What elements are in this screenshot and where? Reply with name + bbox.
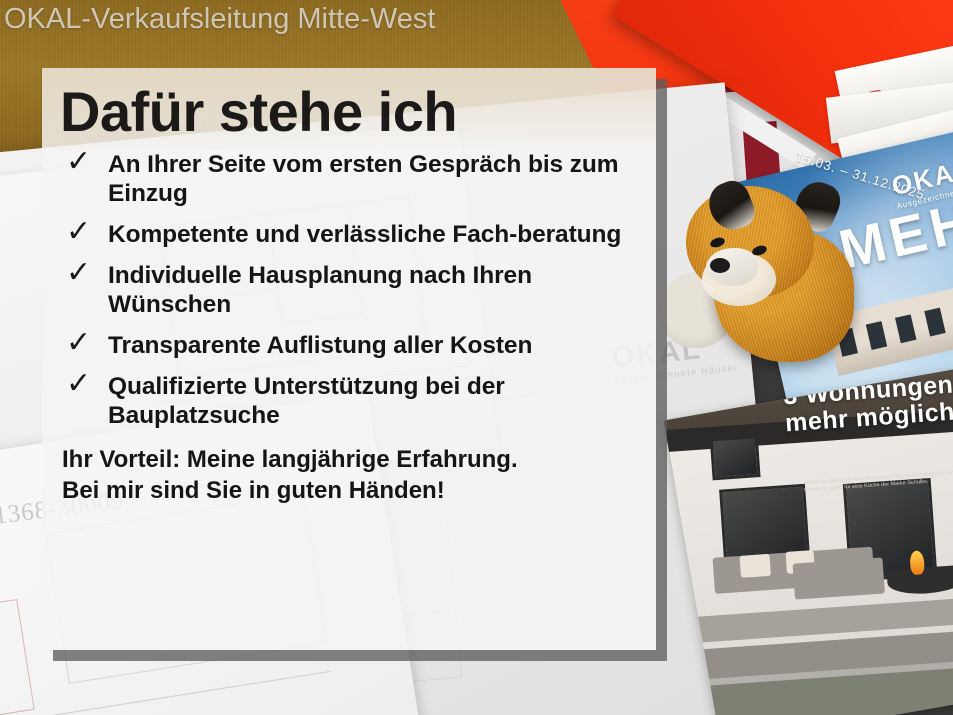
list-item-label: Kompetente und verlässliche Fach-beratun… [108,221,621,248]
closing-statement: Ihr Vorteil: Meine langjährige Erfahrung… [60,444,638,506]
photo-upper-window [710,435,761,480]
slide-canvas: MEHR 15.03. – 31.12.2025 OKAL Ausgezeich… [0,0,953,715]
list-item: ✓ Kompetente und verlässliche Fach-berat… [60,220,630,249]
house-photo-flyer: 3 Wohnungen und mehr möglich Aktion nur … [664,368,953,715]
list-item: ✓ Qualifizierte Unterstützung bei der Ba… [60,372,630,430]
fox-ear [703,176,760,236]
fox-eye [709,236,726,249]
check-icon: ✓ [66,369,91,399]
panel-content: Dafür stehe ich ✓ An Ihrer Seite vom ers… [42,68,656,506]
check-icon: ✓ [66,217,91,247]
fox-figurine [676,168,861,373]
claims-list: ✓ An Ihrer Seite vom ersten Gespräch bis… [60,150,638,430]
check-icon: ✓ [66,328,91,358]
dimension-line [0,671,330,715]
fox-eye [751,244,768,257]
list-item-label: Qualifizierte Unterstützung bei der Baup… [108,373,505,429]
list-item: ✓ Transparente Auflistung aller Kosten [60,331,630,360]
photo-armchair [793,557,885,599]
closing-line-1: Ihr Vorteil: Meine langjährige Erfahrung… [62,444,630,475]
check-icon: ✓ [66,147,91,177]
list-item: ✓ Individuelle Hausplanung nach Ihren Wü… [60,261,630,319]
fox-nose [710,258,730,273]
fox-head [686,186,814,298]
photo-cushion [740,554,771,578]
closing-line-2: Bei mir sind Sie in guten Händen! [62,475,630,506]
list-item: ✓ An Ihrer Seite vom ersten Gespräch bis… [60,150,630,208]
page-title: Dafür stehe ich [60,82,638,142]
list-item-label: An Ihrer Seite vom ersten Gespräch bis z… [108,151,618,207]
floorplan-detail [0,599,35,715]
list-item-label: Transparente Auflistung aller Kosten [108,332,532,359]
content-panel: Dafür stehe ich ✓ An Ihrer Seite vom ers… [42,68,656,650]
check-icon: ✓ [66,258,91,288]
list-item-label: Individuelle Hausplanung nach Ihren Wüns… [108,262,532,318]
